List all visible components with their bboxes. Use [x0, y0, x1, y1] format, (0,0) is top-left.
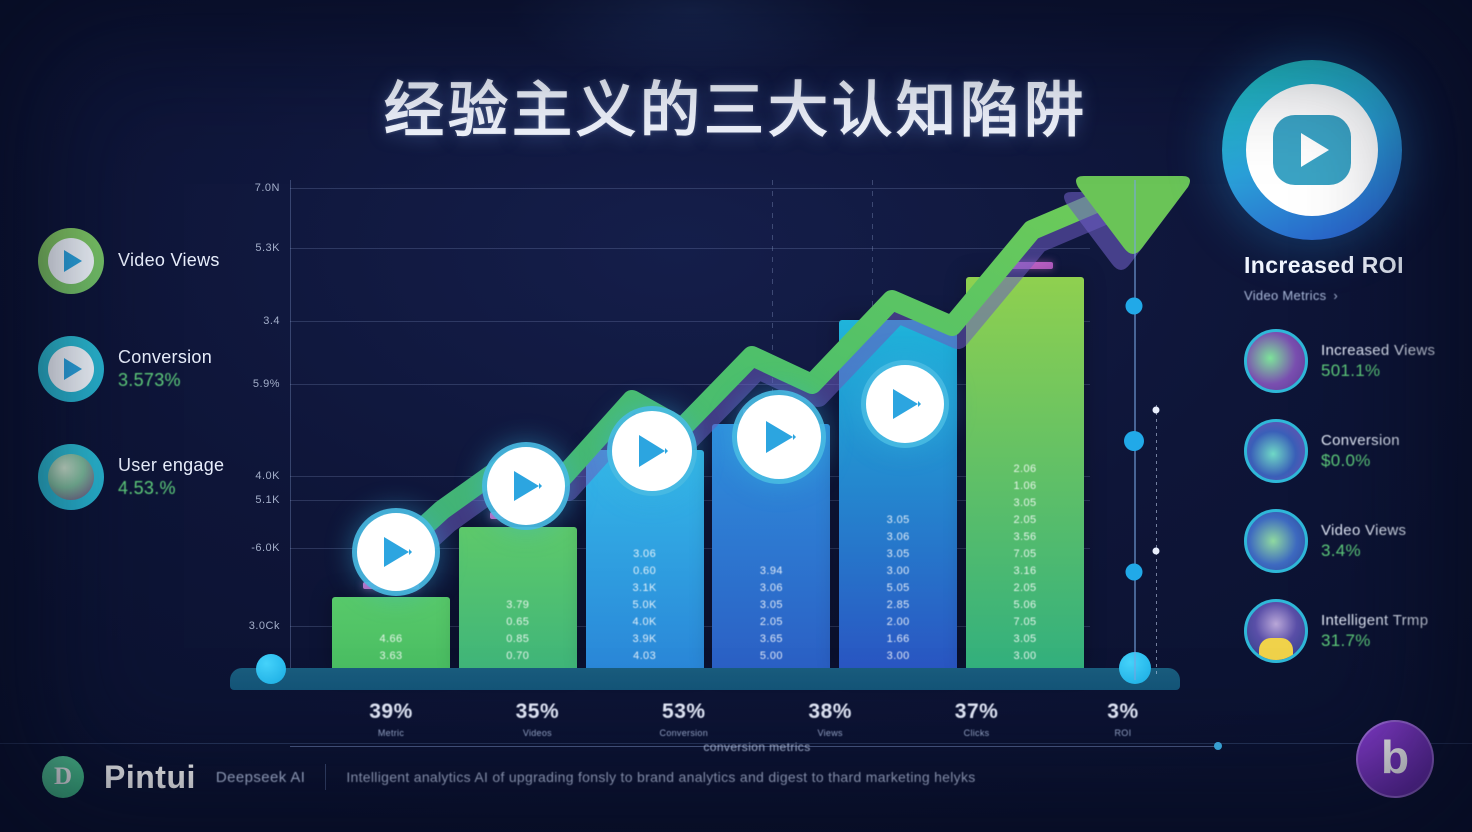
x-axis-sublabel: Metric	[332, 728, 450, 738]
panel-subtitle: Video Metrics	[1244, 288, 1326, 303]
play-button-inner-ring	[1246, 84, 1378, 216]
y-tick-label: 5.3K	[255, 242, 280, 254]
chevron-right-icon: ›	[1333, 288, 1338, 303]
bar-value: 0.70	[506, 649, 529, 664]
bar-value: 7.05	[1013, 615, 1036, 630]
avatar-globe-icon	[1244, 419, 1308, 483]
x-axis-percent: 3%	[1064, 700, 1182, 724]
bar-value: 3.05	[887, 513, 910, 528]
legend-left: Video Views Conversion 3.573% User engag…	[38, 228, 248, 552]
panel-item-label: Intelligent Trmp	[1321, 612, 1428, 629]
brand-logo-glyph: D	[54, 763, 72, 791]
bar-value: 2.00	[887, 615, 910, 630]
panel-item-value: $0.0%	[1321, 451, 1400, 471]
bar-value: 1.06	[1013, 479, 1036, 494]
x-axis-tick: 39% Metric	[332, 700, 450, 738]
bar-group[interactable]: 3.79 0.65 0.85 0.70	[459, 512, 577, 672]
timeline-dot	[1126, 298, 1143, 315]
x-axis-sublabel: Clicks	[918, 728, 1036, 738]
avatar-icon	[38, 444, 104, 510]
gridline: 7.0N	[290, 188, 1090, 189]
x-axis-sublabel: Conversion	[625, 728, 743, 738]
play-icon[interactable]	[866, 365, 944, 443]
x-axis-tick: 53% Conversion	[625, 700, 743, 738]
avatar-person-icon	[1244, 599, 1308, 663]
play-icon	[1273, 115, 1351, 185]
avatar-leaf-icon	[1244, 329, 1308, 393]
play-icon[interactable]	[737, 395, 821, 479]
panel-item-label: Increased Views	[1321, 342, 1435, 359]
bar-value: 4.0K	[632, 615, 656, 630]
bar-value: 3.05	[1013, 496, 1036, 511]
panel-item-value: 3.4%	[1321, 541, 1406, 561]
bar[interactable]: 4.66 3.63	[332, 597, 450, 672]
bar-value: 3.16	[1013, 564, 1036, 579]
x-axis-percent: 53%	[625, 700, 743, 724]
bar-value: 3.65	[760, 632, 783, 647]
bar-value: 1.66	[887, 632, 910, 647]
bar-value: 3.9K	[632, 632, 656, 647]
play-icon[interactable]	[357, 513, 435, 591]
timeline-dot	[1124, 431, 1144, 451]
panel-item[interactable]: Video Views 3.4%	[1244, 509, 1456, 573]
bar-value: 2.85	[887, 598, 910, 613]
panel-item[interactable]: Conversion $0.0%	[1244, 419, 1456, 483]
bar-value: 3.06	[760, 581, 783, 596]
bar-value: 7.05	[1013, 547, 1036, 562]
bar-value: 0.65	[506, 615, 529, 630]
panel-subtitle-row[interactable]: Video Metrics ›	[1244, 288, 1456, 303]
bar-value: 5.0K	[632, 598, 656, 613]
bar-value: 4.03	[633, 649, 656, 664]
y-tick-label: 3.0Ck	[249, 620, 280, 632]
bar-value: 5.05	[887, 581, 910, 596]
panel-item-label: Conversion	[1321, 432, 1400, 449]
legend-item[interactable]: User engage 4.53.%	[38, 444, 248, 510]
bar-value: 2.05	[1013, 581, 1036, 596]
corner-brand-glyph: b	[1381, 734, 1409, 780]
timeline-dashed-line	[1156, 405, 1157, 677]
timeline-dashed-dot	[1153, 407, 1160, 414]
panel-item-label: Video Views	[1321, 522, 1406, 539]
legend-item-label: Video Views	[118, 250, 220, 271]
footer-divider	[0, 743, 1472, 744]
bar-value: 3.06	[887, 530, 910, 545]
x-axis-labels: 39% Metric 35% Videos 53% Conversion 38%…	[332, 700, 1182, 738]
bar-group[interactable]: 2.06 1.06 3.05 2.05 3.56 7.05 3.16 2.05 …	[966, 262, 1084, 672]
bar-value: 3.00	[1013, 649, 1036, 664]
bar[interactable]: 2.06 1.06 3.05 2.05 3.56 7.05 3.16 2.05 …	[966, 277, 1084, 672]
chart-base-platform	[230, 668, 1180, 690]
avatar-team-icon	[1244, 509, 1308, 573]
bar-value: 0.85	[506, 632, 529, 647]
bar-value: 2.05	[1013, 513, 1036, 528]
y-tick-label: 5.1K	[255, 494, 280, 506]
legend-item-label: User engage	[118, 455, 224, 476]
bar-series: 4.66 3.63 3.79 0.65 0.85 0.70 3.06 0.60	[332, 202, 1084, 672]
x-axis-tick: 37% Clicks	[918, 700, 1036, 738]
y-tick-label: 7.0N	[255, 182, 280, 194]
bar-value: 3.56	[1013, 530, 1036, 545]
bar-value: 3.05	[1013, 632, 1036, 647]
y-tick-label: 3.4	[263, 315, 280, 327]
bar-value: 3.05	[760, 598, 783, 613]
x-axis-sublabel: ROI	[1064, 728, 1182, 738]
bar-value: 3.05	[887, 547, 910, 562]
infographic-slide: 经验主义的三大认知陷阱 7.0N 5.3K 3.4 5.9% 4.0K 5.1K…	[0, 0, 1472, 832]
y-tick-label: 5.9%	[253, 378, 280, 390]
bar[interactable]: 3.79 0.65 0.85 0.70	[459, 527, 577, 672]
footer-vertical-divider	[325, 764, 326, 790]
bar-value: 3.06	[633, 547, 656, 562]
brand-name: Pintui	[104, 759, 196, 796]
x-axis-sublabel: Views	[771, 728, 889, 738]
panel-item[interactable]: Intelligent Trmp 31.7%	[1244, 599, 1456, 663]
play-icon[interactable]	[612, 411, 692, 491]
legend-item-label: Conversion	[118, 347, 212, 368]
y-tick-label: 4.0K	[255, 470, 280, 482]
brand-secondary: Deepseek AI	[216, 769, 305, 786]
legend-item[interactable]: Video Views	[38, 228, 248, 294]
footer: D Pintui Deepseek AI Intelligent analyti…	[42, 756, 976, 798]
bar-value: 5.00	[760, 649, 783, 664]
right-panel: Increased ROI Video Metrics › Increased …	[1244, 252, 1456, 663]
legend-item-value: 4.53.%	[118, 478, 224, 499]
x-axis-tick: 38% Views	[771, 700, 889, 738]
x-axis-sublabel: Videos	[478, 728, 596, 738]
corner-brand-logo[interactable]: b	[1356, 720, 1434, 798]
base-dot-left	[256, 654, 286, 684]
x-axis: 39% Metric 35% Videos 53% Conversion 38%…	[332, 700, 1182, 738]
timeline-dot	[1126, 564, 1143, 581]
bar-value: 3.94	[760, 564, 783, 579]
brand-logo-icon: D	[42, 756, 84, 798]
legend-item[interactable]: Conversion 3.573%	[38, 336, 248, 402]
play-icon	[38, 228, 104, 294]
bar-marker	[997, 262, 1053, 269]
x-axis-percent: 38%	[771, 700, 889, 724]
bar-group[interactable]: 3.05 3.06 3.05 3.00 5.05 2.85 2.00 1.66 …	[839, 305, 957, 672]
bar-value: 3.1K	[632, 581, 656, 596]
chart-plot-area: 7.0N 5.3K 3.4 5.9% 4.0K 5.1K -6.0K 3.0Ck	[232, 180, 1180, 680]
timeline-dashed-dot	[1153, 548, 1160, 555]
bar-group[interactable]: 4.66 3.63	[332, 582, 450, 672]
play-icon	[38, 336, 104, 402]
bar-value: 3.63	[379, 649, 402, 664]
bar-value: 2.06	[1013, 462, 1036, 477]
x-axis-percent: 39%	[332, 700, 450, 724]
legend-item-value: 3.573%	[118, 370, 212, 391]
bar-value: 0.60	[633, 564, 656, 579]
footer-tagline: Intelligent analytics AI of upgrading fo…	[346, 769, 975, 785]
panel-item-value: 31.7%	[1321, 631, 1428, 651]
x-axis-percent: 35%	[478, 700, 596, 724]
play-icon[interactable]	[487, 447, 565, 525]
bar-value: 3.00	[887, 649, 910, 664]
timeline-axis	[1134, 180, 1136, 680]
y-axis-line	[290, 180, 291, 672]
x-axis-tick: 35% Videos	[478, 700, 596, 738]
bar-value: 5.06	[1013, 598, 1036, 613]
panel-heading: Increased ROI	[1244, 252, 1456, 279]
play-button-large[interactable]	[1222, 60, 1402, 240]
y-tick-label: -6.0K	[251, 542, 280, 554]
bar-value: 3.79	[506, 598, 529, 613]
x-axis-tick: 3% ROI	[1064, 700, 1182, 738]
bar-value: 3.00	[887, 564, 910, 579]
panel-item-value: 501.1%	[1321, 361, 1435, 381]
panel-item[interactable]: Increased Views 501.1%	[1244, 329, 1456, 393]
x-axis-percent: 37%	[918, 700, 1036, 724]
bar-value: 2.05	[760, 615, 783, 630]
bar-value: 4.66	[379, 632, 402, 647]
